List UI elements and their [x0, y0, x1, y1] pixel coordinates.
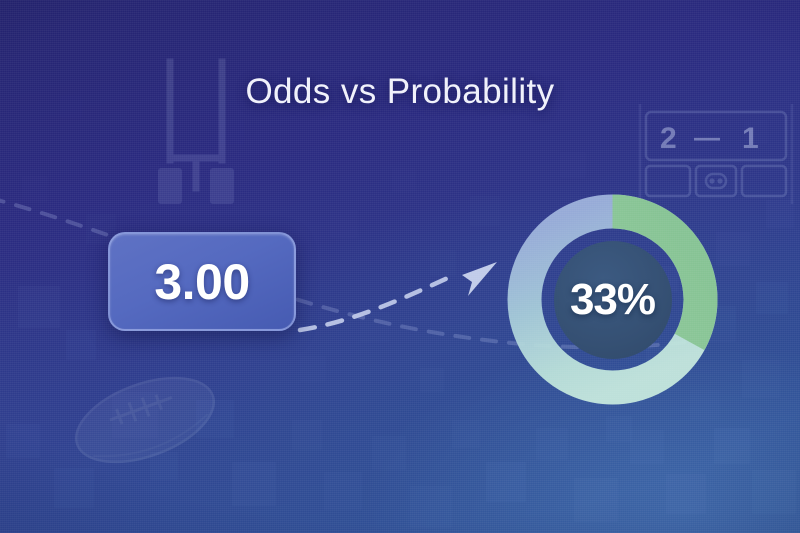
arrowhead-icon [462, 262, 497, 296]
rugby-ball-icon [65, 362, 225, 479]
odds-value-card[interactable]: 3.00 [108, 232, 296, 331]
donut-container: 33% [505, 192, 720, 407]
odds-value-text: 3.00 [154, 253, 249, 311]
score-separator: — [694, 122, 720, 152]
score-home: 2 [660, 122, 677, 155]
donut-percent-label: 33% [570, 275, 655, 325]
score-away: 1 [742, 122, 759, 155]
page-title: Odds vs Probability [0, 72, 800, 112]
poster-canvas: 2 — 1 Odds vs Probability 3.00 33% [0, 0, 800, 533]
donut-hole: 33% [554, 241, 672, 359]
scoreboard-score: 2 — 1 [660, 122, 759, 155]
